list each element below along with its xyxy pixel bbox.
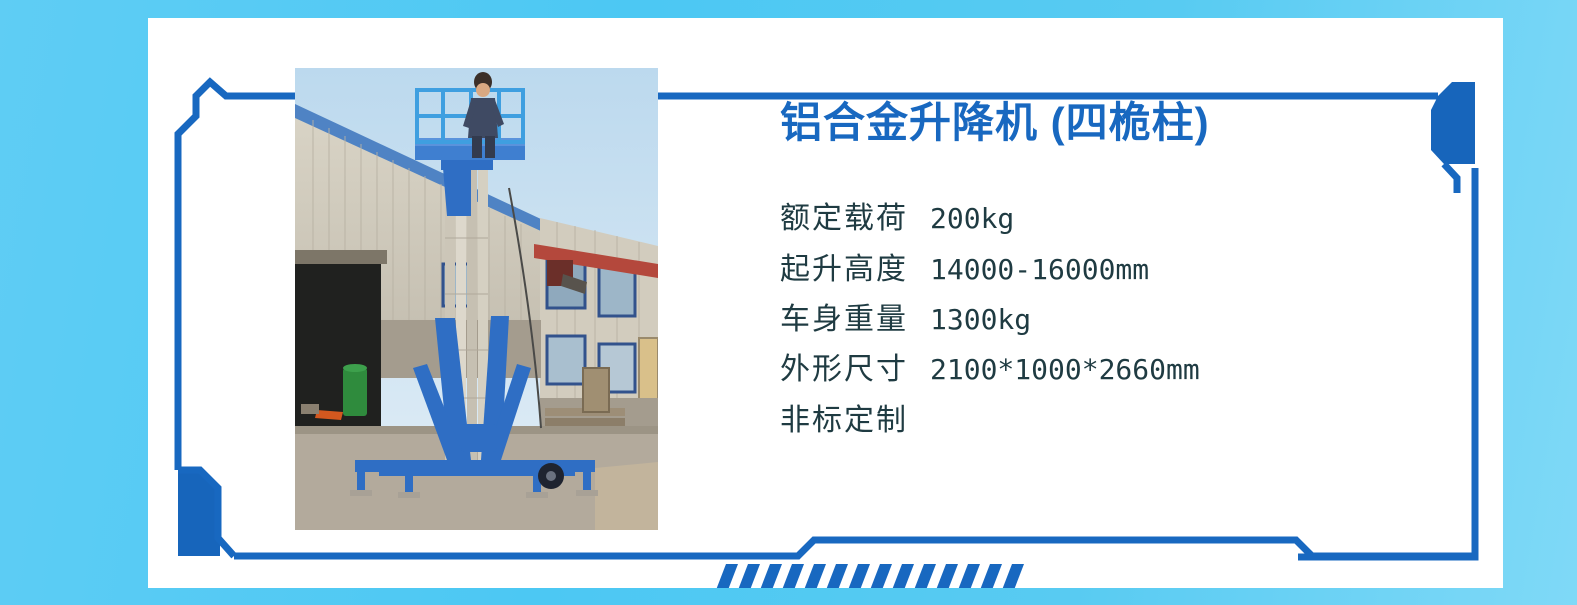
product-title: 铝合金升降机 (四桅柱) [780, 100, 1430, 146]
spec-value: 1300kg [930, 296, 1031, 343]
spec-row: 车身重量 1300kg [780, 295, 1430, 345]
spec-list: 额定载荷 200kg 起升高度 14000-16000mm 车身重量 1300k… [780, 194, 1430, 446]
spec-label: 车身重量 [780, 295, 908, 345]
spec-row: 非标定制 [780, 396, 1430, 446]
spec-row: 额定载荷 200kg [780, 194, 1430, 244]
spec-label: 额定载荷 [780, 194, 908, 244]
spec-label: 非标定制 [780, 396, 908, 446]
spec-value: 14000-16000mm [930, 246, 1149, 293]
spec-row: 起升高度 14000-16000mm [780, 245, 1430, 295]
spec-label: 外形尺寸 [780, 345, 908, 395]
spec-value: 200kg [930, 195, 1014, 242]
spec-value: 2100*1000*2660mm [930, 346, 1200, 393]
product-info: 铝合金升降机 (四桅柱) 额定载荷 200kg 起升高度 14000-16000… [780, 100, 1430, 446]
spec-row: 外形尺寸 2100*1000*2660mm [780, 345, 1430, 395]
spec-label: 起升高度 [780, 245, 908, 295]
product-photo [295, 68, 658, 530]
product-card: 铝合金升降机 (四桅柱) 额定载荷 200kg 起升高度 14000-16000… [148, 18, 1503, 588]
